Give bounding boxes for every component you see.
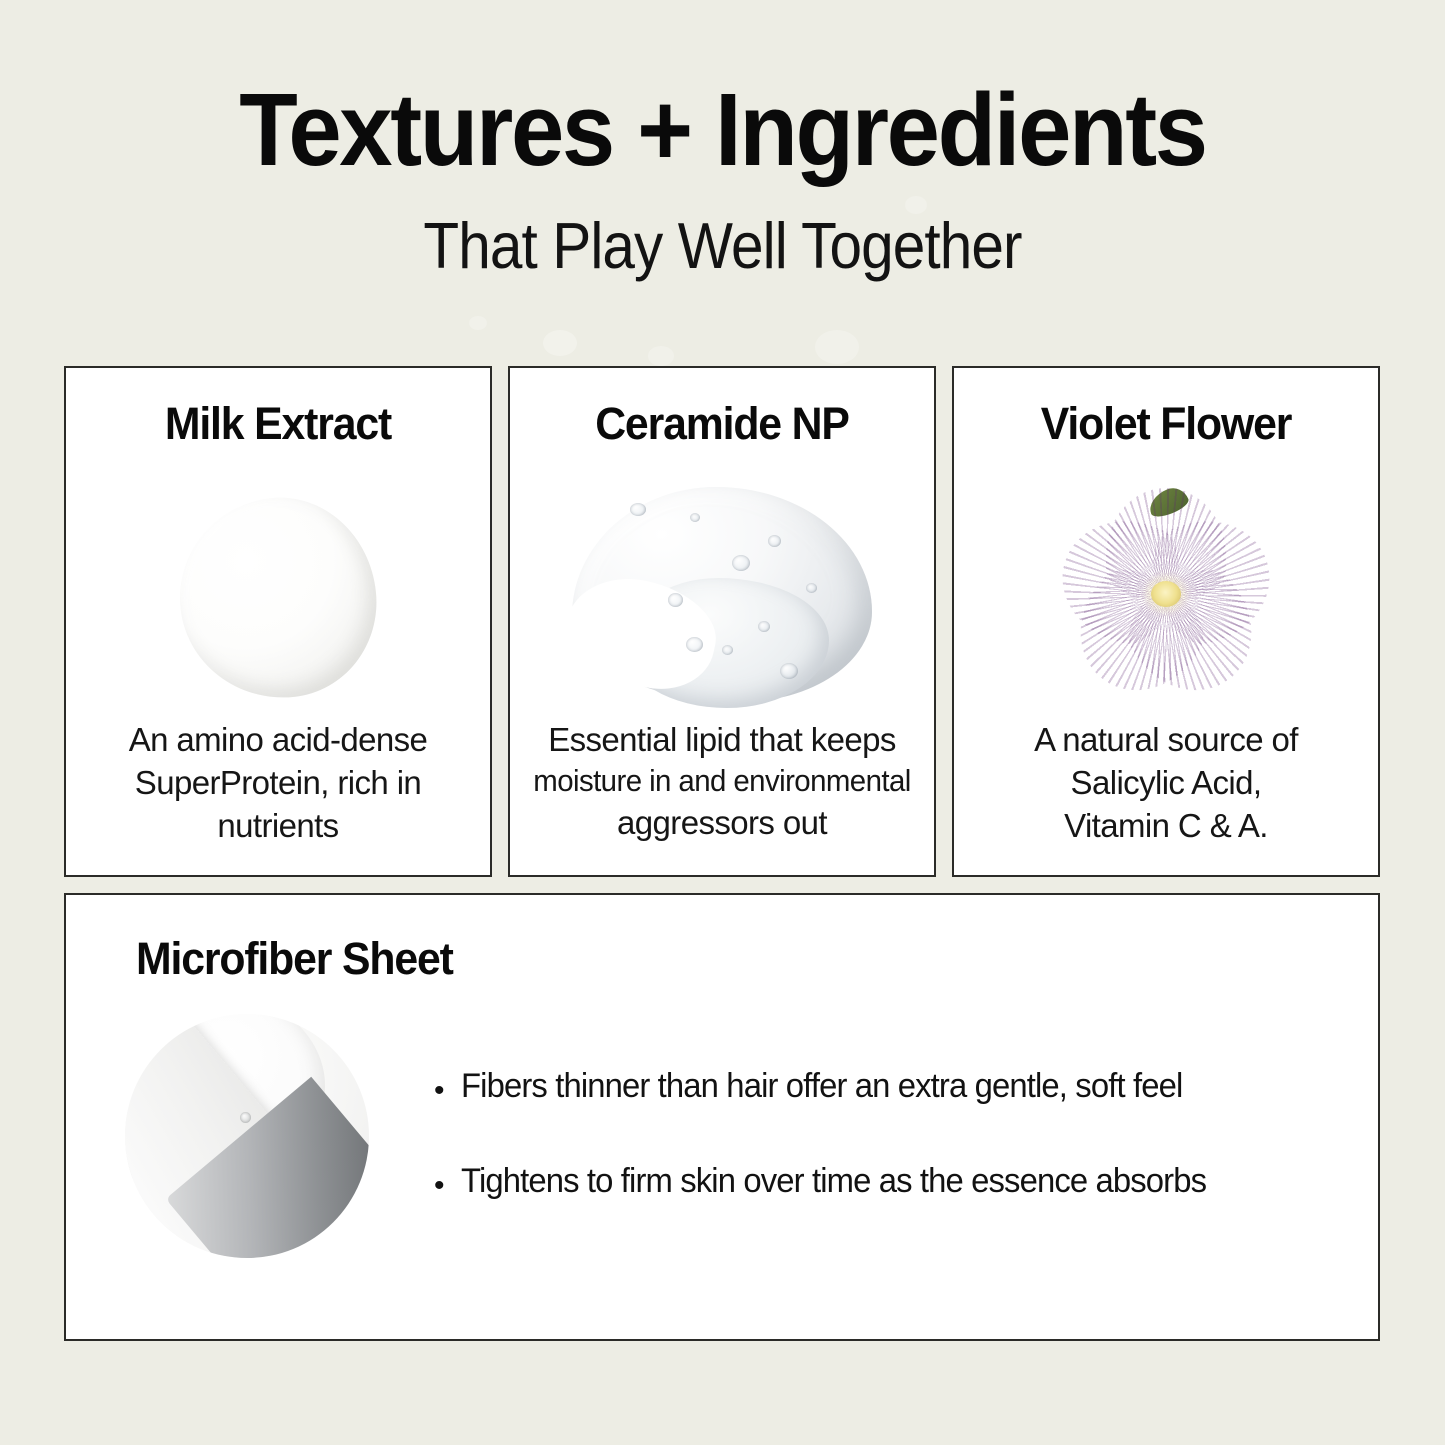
backdrop-speck	[648, 346, 674, 366]
ingredient-card-milk-extract[interactable]: Milk Extract An amino acid-dense SuperPr…	[64, 366, 492, 877]
desc-line: moisture in and environmental	[517, 762, 926, 802]
card-title-microfiber-sheet: Microfiber Sheet	[136, 933, 453, 985]
gel-bubble	[768, 535, 781, 547]
ingredient-card-violet-flower[interactable]: Violet Flower A natural source of Salicy…	[952, 366, 1380, 877]
card-title-milk-extract: Milk Extract	[77, 398, 480, 450]
milk-extract-illustration	[66, 486, 490, 710]
ingredient-card-ceramide-np[interactable]: Ceramide NP Essential lipid that keeps m	[508, 366, 936, 877]
flower-center	[1151, 581, 1181, 607]
bullet-marker-icon: •	[434, 1076, 445, 1106]
desc-line: nutrients	[66, 805, 490, 848]
gel-bubble	[780, 663, 798, 679]
desc-line: A natural source of	[954, 719, 1378, 762]
card-description-milk-extract: An amino acid-dense SuperProtein, rich i…	[66, 719, 490, 848]
gel-droplet-icon	[572, 487, 872, 702]
ceramide-gel-illustration	[510, 478, 934, 710]
infographic-canvas: Textures + Ingredients That Play Well To…	[0, 0, 1445, 1445]
desc-line: An amino acid-dense	[66, 719, 490, 762]
feature-card-microfiber-sheet[interactable]: Microfiber Sheet • Fibers thinner than h…	[64, 893, 1380, 1341]
gel-bubble	[668, 593, 683, 607]
cream-blob-icon	[170, 488, 386, 707]
header: Textures + Ingredients That Play Well To…	[0, 0, 1445, 278]
list-item: • Tightens to firm skin over time as the…	[434, 1162, 1324, 1201]
desc-line: SuperProtein, rich in	[66, 762, 490, 805]
card-description-violet-flower: A natural source of Salicylic Acid, Vita…	[954, 719, 1378, 848]
page-subtitle: That Play Well Together	[72, 213, 1373, 278]
card-description-ceramide-np: Essential lipid that keeps moisture in a…	[510, 719, 934, 844]
backdrop-speck	[543, 330, 577, 356]
gel-bubble	[686, 637, 703, 652]
bullet-text: Tightens to firm skin over time as the e…	[461, 1162, 1206, 1200]
card-title-violet-flower: Violet Flower	[965, 398, 1368, 450]
gel-bubble	[758, 621, 770, 632]
backdrop-speck	[815, 330, 859, 364]
gel-bubble	[722, 645, 733, 655]
bullet-text: Fibers thinner than hair offer an extra …	[461, 1067, 1182, 1105]
desc-line: aggressors out	[510, 802, 934, 845]
desc-line: Essential lipid that keeps	[510, 719, 934, 762]
list-item: • Fibers thinner than hair offer an extr…	[434, 1067, 1324, 1106]
gel-bubble	[630, 503, 646, 516]
desc-line: Vitamin C & A.	[954, 805, 1378, 848]
microfiber-swatch-icon	[125, 1014, 369, 1258]
microfiber-illustration	[125, 1014, 369, 1258]
fiber-droplet	[240, 1112, 251, 1123]
gel-bubble	[806, 583, 817, 593]
gel-bubble	[690, 513, 700, 522]
backdrop-speck	[469, 316, 487, 330]
violet-flower-icon	[1052, 494, 1280, 694]
violet-flower-illustration	[954, 480, 1378, 708]
microfiber-bullet-list: • Fibers thinner than hair offer an extr…	[434, 1067, 1324, 1257]
gel-bubble	[732, 555, 750, 571]
card-title-ceramide-np: Ceramide NP	[521, 398, 924, 450]
page-title: Textures + Ingredients	[51, 78, 1395, 181]
desc-line: Salicylic Acid,	[954, 762, 1378, 805]
bullet-marker-icon: •	[434, 1171, 445, 1201]
